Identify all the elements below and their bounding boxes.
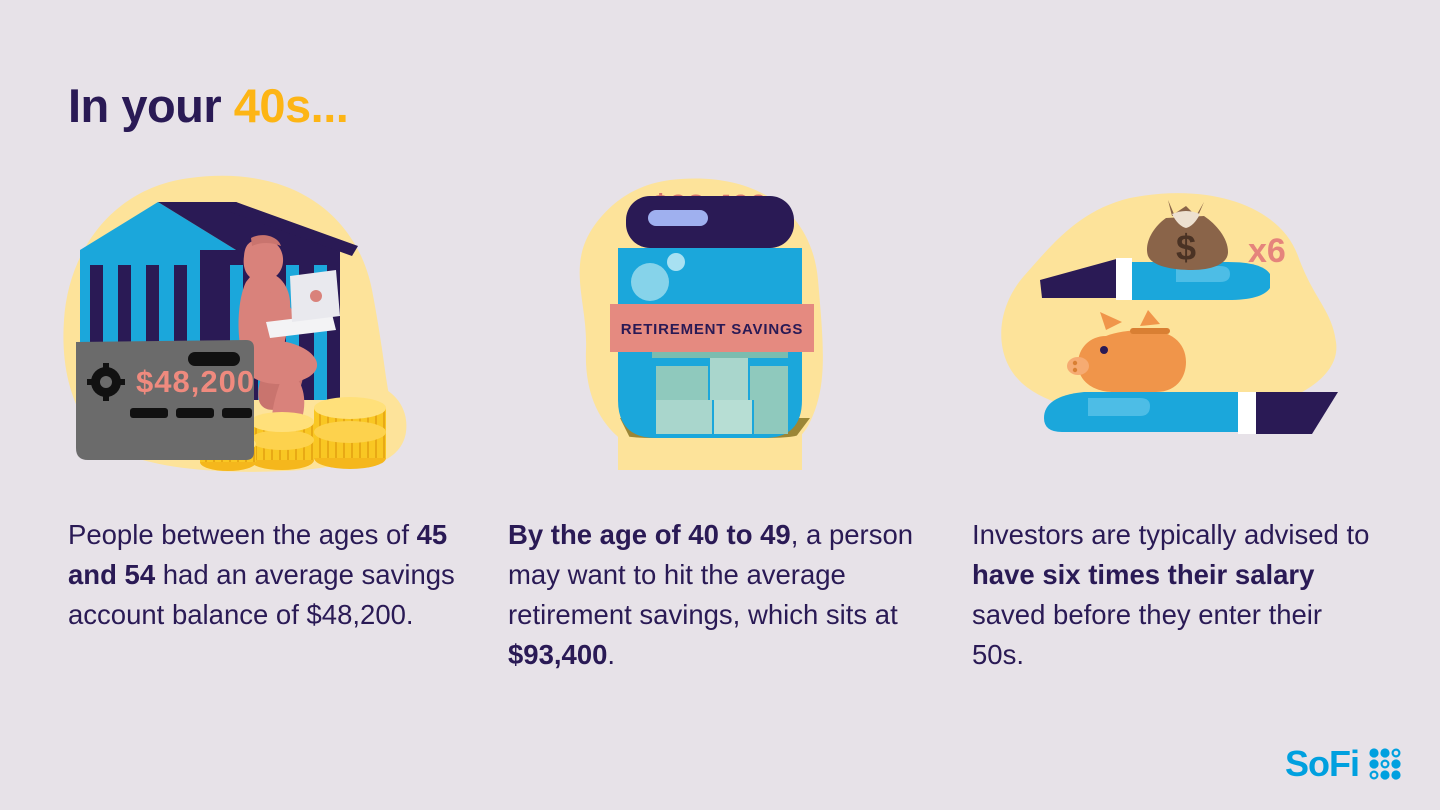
money-bag-piggy-bank-illustration: $ x6 bbox=[960, 170, 1440, 480]
caption-retirement-savings: By the age of 40 to 49, a person may wan… bbox=[508, 515, 928, 675]
caption-part-bold: By the age of 40 to 49 bbox=[508, 519, 791, 550]
sofi-wordmark: SoFi bbox=[1285, 746, 1359, 782]
page-title-accent: 40s... bbox=[234, 79, 349, 132]
coin-stack-tall bbox=[314, 397, 386, 469]
jar-lid-highlight bbox=[648, 210, 708, 226]
credit-card-amount: $48,200 bbox=[136, 364, 255, 399]
piggy-snout bbox=[1067, 357, 1089, 375]
caption-six-times-salary: Investors are typically advised to have … bbox=[972, 515, 1372, 675]
savings-jar-illustration: $93,400 bbox=[480, 170, 960, 480]
columns-container: $48,200 People between the ages of 45 an… bbox=[0, 170, 1440, 480]
person-head bbox=[244, 239, 283, 281]
lower-sleeve bbox=[1256, 392, 1338, 434]
jar-label-text: RETIREMENT SAVINGS bbox=[621, 321, 803, 338]
card-bar-3 bbox=[222, 408, 252, 418]
upper-cuff bbox=[1116, 258, 1132, 300]
column-six-times-salary: $ x6 bbox=[960, 170, 1440, 480]
lower-cuff bbox=[1238, 392, 1256, 434]
sofi-dot-grid-mark bbox=[1368, 747, 1402, 781]
page-title-lead: In your bbox=[68, 79, 234, 132]
caption-part: Investors are typically advised to bbox=[972, 519, 1369, 550]
card-bar-1 bbox=[130, 408, 168, 418]
lower-hand-highlight bbox=[1088, 398, 1150, 416]
sofi-logo: SoFi bbox=[1285, 746, 1402, 782]
coin-stack-middle bbox=[250, 412, 314, 470]
caption-part-bold: $93,400 bbox=[508, 639, 607, 670]
column-savings-account: $48,200 People between the ages of 45 an… bbox=[0, 170, 480, 480]
multiplier-label: x6 bbox=[1248, 232, 1286, 270]
column-retirement-savings: $93,400 bbox=[480, 170, 960, 480]
caption-part: saved before they enter their 50s. bbox=[972, 599, 1322, 670]
laptop-logo bbox=[310, 290, 322, 302]
caption-savings-account: People between the ages of 45 and 54 had… bbox=[68, 515, 458, 635]
bank-credit-card-coins-illustration: $48,200 bbox=[0, 170, 480, 480]
page-title: In your 40s... bbox=[68, 78, 348, 133]
jar-bubble-large bbox=[631, 263, 669, 301]
piggy-coin-slot bbox=[1130, 328, 1170, 334]
jar-rim bbox=[618, 248, 802, 258]
caption-part-bold: have six times their salary bbox=[972, 559, 1314, 590]
caption-part: . bbox=[607, 639, 615, 670]
jar-bubble-small bbox=[667, 253, 685, 271]
piggy-eye bbox=[1100, 346, 1108, 354]
caption-part: People between the ages of bbox=[68, 519, 417, 550]
card-bar-2 bbox=[176, 408, 214, 418]
slide-root: In your 40s... bbox=[0, 0, 1440, 810]
money-bag-dollar-sign: $ bbox=[1176, 227, 1196, 268]
